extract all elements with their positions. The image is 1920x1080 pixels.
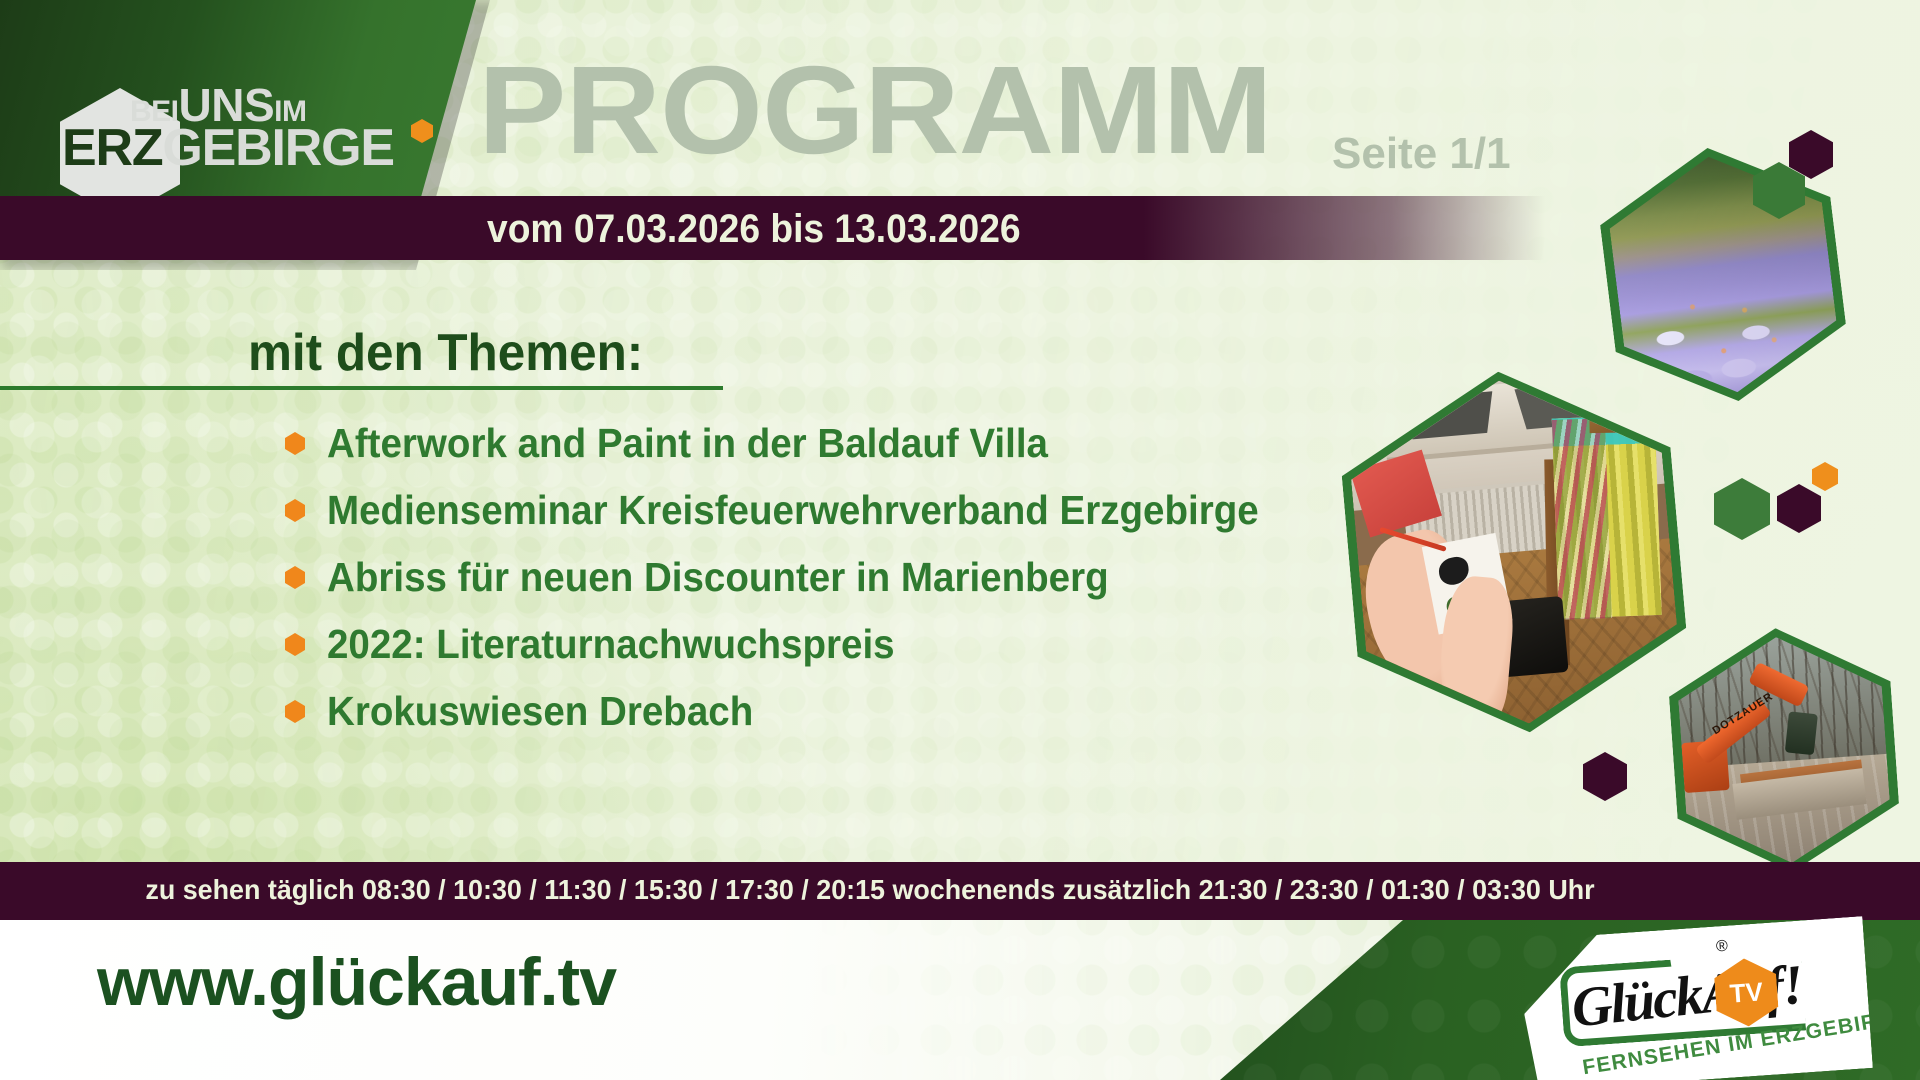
topics-divider xyxy=(0,386,723,390)
logo-word-erz: ERZ xyxy=(62,119,162,177)
photo-detail-canvas-strokes xyxy=(1552,418,1612,619)
topics-heading: mit den Themen: xyxy=(248,323,643,383)
list-item: Abriss für neuen Discounter in Marienber… xyxy=(285,544,1335,611)
bullet-hexagon-icon xyxy=(285,633,305,656)
date-range-text: vom 07.03.2026 bis 13.03.2026 xyxy=(487,207,1021,252)
topics-list: Afterwork and Paint in der Baldauf Villa… xyxy=(285,410,1335,745)
topic-label: Krokuswiesen Drebach xyxy=(327,688,753,735)
topic-label: Abriss für neuen Discounter in Marienber… xyxy=(327,554,1109,601)
list-item: Afterwork and Paint in der Baldauf Villa xyxy=(285,410,1335,477)
list-item: Medienseminar Kreisfeuerwehrverband Erzg… xyxy=(285,477,1335,544)
website-url[interactable]: www.glückauf.tv xyxy=(97,943,616,1021)
bullet-hexagon-icon xyxy=(285,432,305,455)
excavator-demolition-image: DOTZAUER xyxy=(1674,630,1893,870)
hexagon-photo-clip xyxy=(1344,367,1685,737)
photo-detail-excavator-grapple xyxy=(1785,711,1818,754)
broadcast-times-text: zu sehen täglich 08:30 / 10:30 / 11:30 /… xyxy=(35,874,1705,906)
logo-text-line-2: ERZGEBIRGE xyxy=(62,118,394,178)
page-title: PROGRAMM xyxy=(478,48,1272,173)
registered-trademark-icon: ® xyxy=(1715,938,1728,957)
topic-label: Afterwork and Paint in der Baldauf Villa xyxy=(327,420,1048,467)
photo-detail-window-glass-left xyxy=(1412,392,1492,440)
bullet-hexagon-icon xyxy=(285,700,305,723)
programm-slide: DOTZAUER BEIUNSIM ERZGEBIRGE PROGRAMM Se… xyxy=(0,0,1920,1080)
topic-label: Medienseminar Kreisfeuerwehrverband Erzg… xyxy=(327,487,1259,534)
photo-hexagon-excavator: DOTZAUER xyxy=(1665,621,1903,880)
bullet-hexagon-icon xyxy=(285,499,305,522)
hexagon-photo-clip: DOTZAUER xyxy=(1674,630,1893,870)
photo-hexagon-afterwork-painting xyxy=(1334,357,1694,746)
page-indicator: Seite 1/1 xyxy=(1332,132,1511,176)
bullet-hexagon-icon xyxy=(285,566,305,589)
tv-badge-label: TV xyxy=(1714,975,1778,1010)
list-item: 2022: Literaturnachwuchspreis xyxy=(285,611,1335,678)
topic-label: 2022: Literaturnachwuchspreis xyxy=(327,621,895,668)
afterwork-painting-image xyxy=(1344,367,1685,737)
logo-word-gebirge: GEBIRGE xyxy=(162,119,393,177)
list-item: Krokuswiesen Drebach xyxy=(285,678,1335,745)
